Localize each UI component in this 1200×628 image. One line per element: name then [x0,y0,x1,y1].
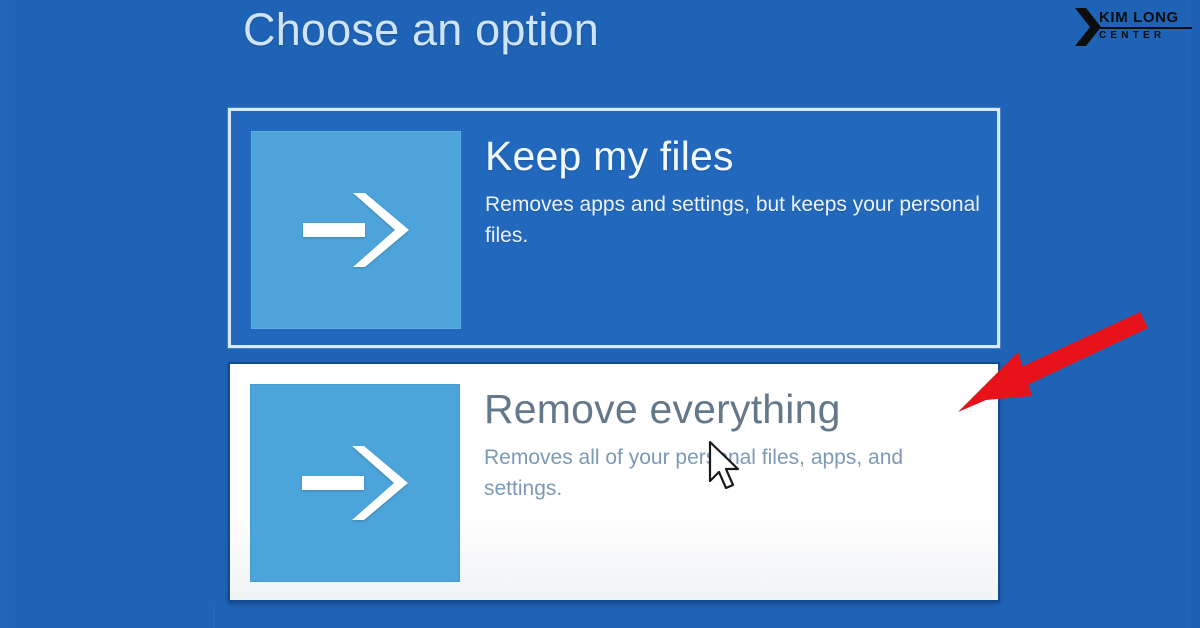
logo-divider [1099,27,1192,29]
option-remove-everything[interactable]: Remove everything Removes all of your pe… [228,362,1000,602]
option-body-remove-everything: Remove everything Removes all of your pe… [484,382,984,504]
bottom-band-seam [213,606,215,628]
right-arrow-icon [303,193,409,267]
option-description-keep-my-files: Removes apps and settings, but keeps you… [485,189,983,251]
option-heading-keep-my-files: Keep my files [485,129,983,183]
option-keep-my-files[interactable]: Keep my files Removes apps and settings,… [228,108,1000,348]
logo-line-bottom: CENTER [1099,30,1194,42]
page-title: Choose an option [243,0,599,60]
angular-k-icon [1075,8,1101,46]
left-edge-band [0,0,9,628]
right-arrow-icon [302,446,408,520]
kim-long-center-logo: KIM LONG CENTER [1075,6,1193,48]
option-tile-keep-my-files [251,131,461,329]
option-heading-remove-everything: Remove everything [484,382,984,436]
option-description-remove-everything: Removes all of your personal files, apps… [484,442,984,504]
logo-wordmark: KIM LONG CENTER [1099,9,1194,42]
option-body-keep-my-files: Keep my files Removes apps and settings,… [485,129,983,251]
recovery-choose-option-screen: Choose an option KIM LONG CENTER Keep my… [0,0,1200,628]
logo-line-top: KIM LONG [1099,9,1194,26]
option-tile-remove-everything [250,384,460,582]
right-edge-band [1191,0,1200,628]
